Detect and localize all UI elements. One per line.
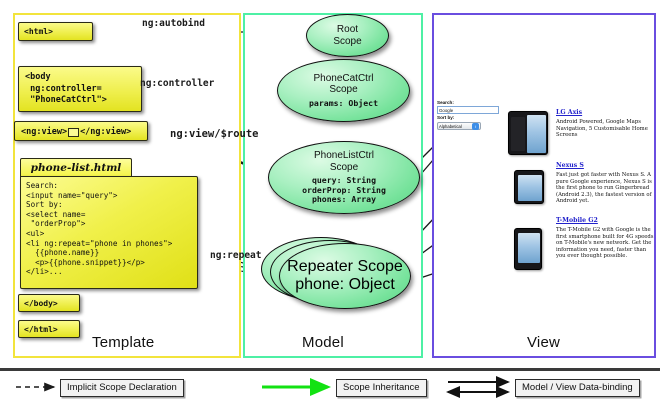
search-input[interactable]: Google: [437, 106, 499, 114]
scope-props: params: Object: [309, 99, 378, 109]
code-box-body-close: </body>: [18, 294, 80, 312]
note-line: <input name="query">: [26, 191, 197, 201]
note-line: <ul>: [26, 229, 197, 239]
scope-name: PhoneListCtrl Scope: [314, 150, 374, 173]
panel-label-model: Model: [302, 334, 344, 351]
diagram-canvas: Template Model View <html> <body ng:cont…: [0, 0, 660, 405]
phone-thumbnail-lg-axis: [508, 111, 548, 155]
note-tab: phone-list.html: [20, 158, 132, 178]
phone-name-link[interactable]: T-Mobile G2: [556, 217, 654, 225]
label-ng-repeat: ng:repeat: [210, 250, 261, 261]
legend-separator: [0, 368, 660, 371]
code-line: <html>: [24, 27, 92, 36]
ngview-line: <ng:view> </ng:view>: [21, 127, 147, 137]
note-line: <li ng:repeat="phone in phones">: [26, 239, 197, 249]
scope-phonelistctrl: PhoneListCtrl Scope query: String orderP…: [268, 141, 420, 214]
phone-screen: [518, 175, 542, 201]
panel-label-template: Template: [92, 334, 154, 351]
note-line: <p>{{phone.snippet}}</p>: [26, 258, 197, 268]
legend-item-scope-inheritance: Scope Inheritance: [336, 379, 427, 397]
note-line: </li>...: [26, 267, 197, 277]
phone-snippet: Fast just got faster with Nexus S. A pur…: [556, 172, 654, 205]
code-box-html-close: </html>: [18, 320, 80, 338]
phone-name-link[interactable]: Nexus S: [556, 162, 654, 170]
note-line: {{phone.name}}: [26, 248, 197, 258]
phone-thumbnail-t-mobile-g2: [514, 228, 542, 270]
scope-name: Root Scope: [333, 24, 361, 47]
label-ng-view-route: ng:view/$route: [170, 128, 259, 140]
code-line: </html>: [24, 325, 79, 334]
code-box-html-open: <html>: [18, 22, 93, 41]
code-line: ng:controller=: [25, 84, 141, 96]
note-line: <select name=: [26, 210, 197, 220]
ngview-slot-icon: [68, 128, 79, 137]
phone-name-link[interactable]: LG Axis: [556, 109, 654, 117]
note-line: Search:: [26, 181, 197, 191]
code-box-ngview: <ng:view> </ng:view>: [14, 121, 148, 141]
phone-screen: [527, 115, 546, 153]
code-line: "PhoneCatCtrl">: [25, 95, 141, 107]
scope-phonecatctrl: PhoneCatCtrl Scope params: Object: [277, 59, 410, 122]
scope-repeater: Repeater Scope phone: Object: [279, 243, 411, 309]
phone-thumbnail-nexus-s: [514, 170, 544, 204]
legend-item-model-view-data-binding: Model / View Data-binding: [515, 379, 640, 397]
scope-root: Root Scope: [306, 14, 389, 57]
scope-props: phone: Object: [295, 276, 395, 294]
phone-snippet: The T-Mobile G2 with Google is the first…: [556, 227, 654, 260]
legend-item-implicit-scope-declaration: Implicit Scope Declaration: [60, 379, 184, 397]
note-line: Sort by:: [26, 200, 197, 210]
scope-name: Repeater Scope: [287, 258, 403, 276]
code-line: </body>: [24, 299, 79, 308]
phone-screen: [518, 233, 540, 263]
sort-label: Sort by:: [437, 115, 499, 121]
panel-label-view: View: [527, 334, 560, 351]
code-line: <body: [25, 72, 141, 84]
sort-select-value: Alphabetical: [439, 123, 462, 130]
phone-entry: T-Mobile G2 The T-Mobile G2 with Google …: [556, 217, 654, 260]
scope-repeater-stack: Repeater Scope phone: Object: [261, 233, 421, 311]
label-ng-controller: ng:controller: [140, 78, 214, 89]
view-search-form: Search: Google Sort by: Alphabetical ↕: [437, 100, 499, 130]
sort-select[interactable]: Alphabetical ↕: [437, 122, 481, 130]
code-box-body-open: <body ng:controller= "PhoneCatCtrl">: [18, 66, 142, 112]
scope-props: query: String orderProp: String phones: …: [302, 176, 386, 205]
phone-keyboard: [511, 117, 525, 151]
label-ng-autobind: ng:autobind: [142, 18, 205, 29]
note-title: phone-list.html: [21, 159, 131, 177]
ngview-close-tag: </ng:view>: [80, 127, 131, 137]
phone-entry: LG Axis Android Powered, Google Maps Nav…: [556, 109, 654, 139]
note-body: Search: <input name="query"> Sort by: <s…: [20, 176, 198, 289]
ngview-open-tag: <ng:view>: [21, 127, 67, 137]
scope-name: PhoneCatCtrl Scope: [313, 73, 373, 96]
note-line: "orderProp">: [26, 219, 197, 229]
phone-snippet: Android Powered, Google Maps Navigation,…: [556, 119, 654, 139]
phone-entry: Nexus S Fast just got faster with Nexus …: [556, 162, 654, 205]
chevron-down-icon: ↕: [472, 123, 479, 130]
template-note-phone-list: phone-list.html Search: <input name="que…: [20, 158, 198, 289]
